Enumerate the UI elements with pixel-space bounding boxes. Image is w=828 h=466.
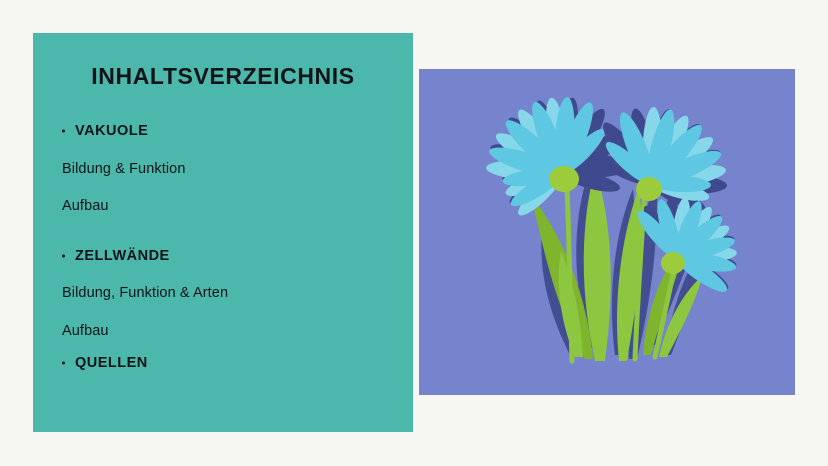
toc-list: VAKUOLE Bildung & Funktion Aufbau ZELLWÄ… <box>62 124 402 371</box>
page-title: INHALTSVERZEICHNIS <box>33 63 413 90</box>
flower-illustration <box>419 69 795 395</box>
list-item-label: ZELLWÄNDE <box>75 248 170 264</box>
table-of-contents-panel: INHALTSVERZEICHNIS VAKUOLE Bildung & Fun… <box>33 33 413 432</box>
list-item-label: VAKUOLE <box>75 123 148 139</box>
list-item[interactable]: ZELLWÄNDE <box>62 249 402 264</box>
spacer <box>62 176 402 199</box>
list-item[interactable]: Aufbau <box>62 199 402 214</box>
slide-canvas: INHALTSVERZEICHNIS VAKUOLE Bildung & Fun… <box>0 0 828 466</box>
list-item-label: Aufbau <box>62 323 109 339</box>
spacer <box>62 263 402 286</box>
list-item[interactable]: Bildung & Funktion <box>62 162 402 177</box>
list-item-label: Bildung, Funktion & Arten <box>62 285 228 301</box>
bullet-dot-icon <box>62 254 65 257</box>
list-item-label: Bildung & Funktion <box>62 161 186 177</box>
spacer <box>62 139 402 162</box>
list-item[interactable]: Bildung, Funktion & Arten <box>62 286 402 301</box>
list-item[interactable]: Aufbau <box>62 324 402 339</box>
bullet-dot-icon <box>62 130 65 133</box>
list-item-label: Aufbau <box>62 198 109 214</box>
list-item[interactable]: VAKUOLE <box>62 124 402 139</box>
spacer <box>62 214 402 249</box>
list-item[interactable]: QUELLEN <box>62 356 402 371</box>
spacer <box>62 338 402 356</box>
list-item-label: QUELLEN <box>75 355 148 371</box>
bullet-dot-icon <box>62 362 65 365</box>
spacer <box>62 301 402 324</box>
blue-daisy-flowers-graphic <box>419 69 795 395</box>
